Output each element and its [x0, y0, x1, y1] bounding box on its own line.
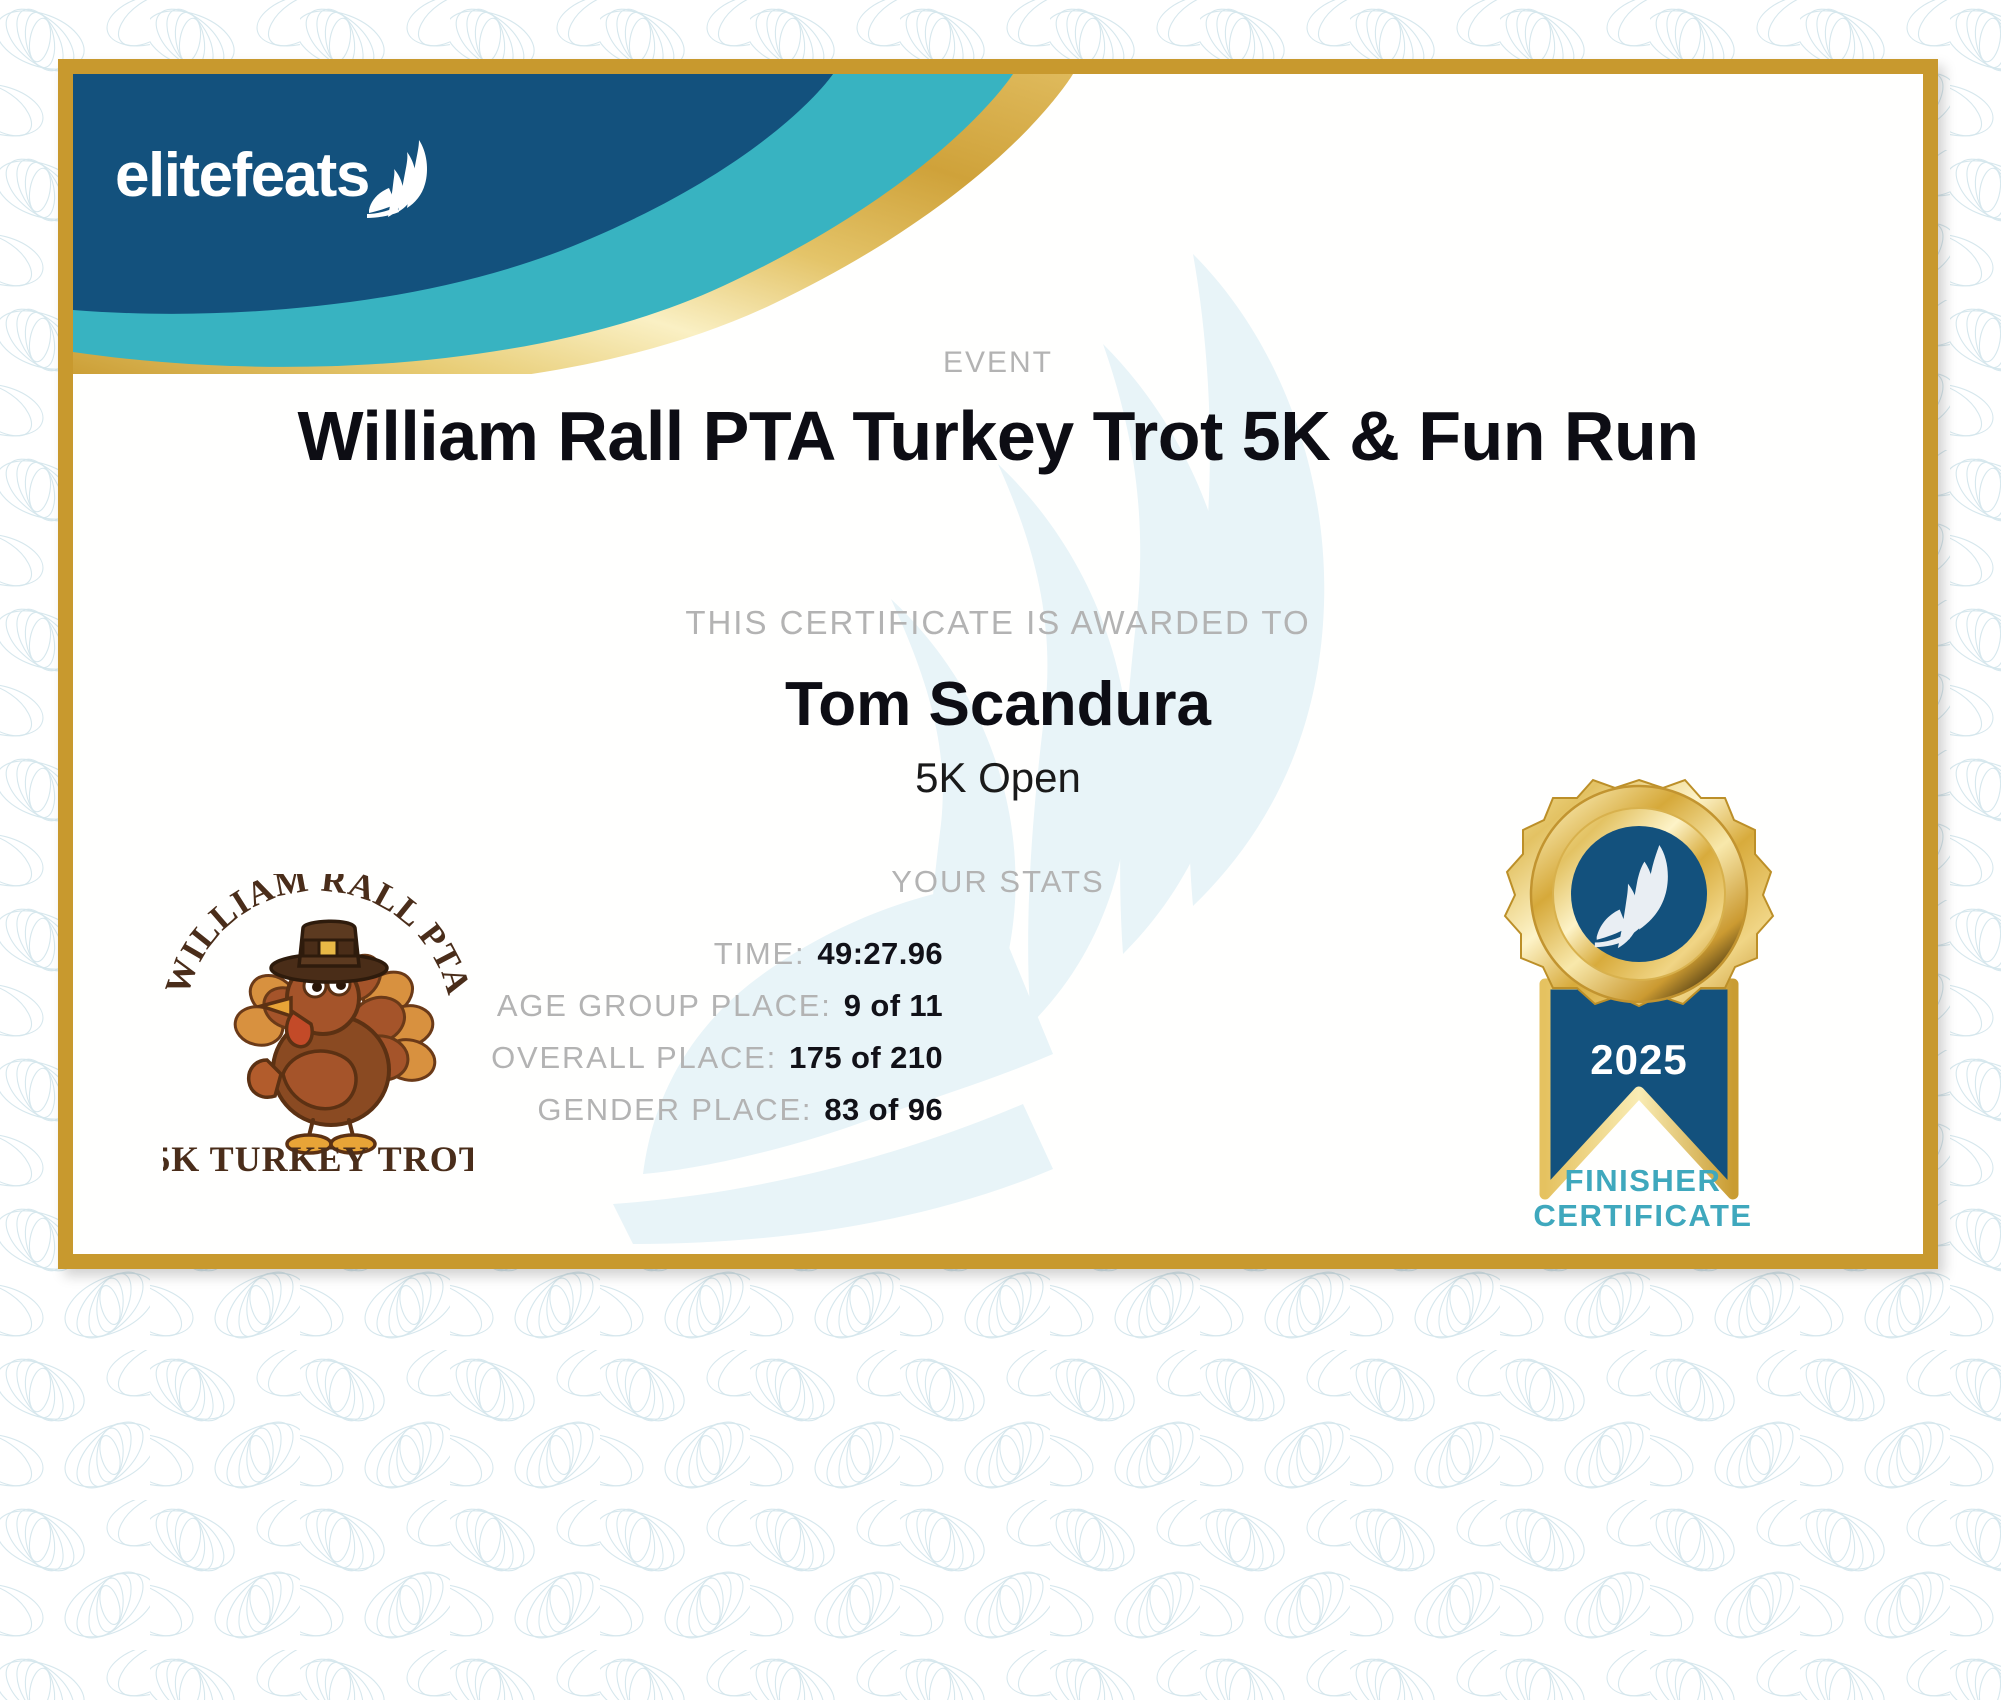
- elitefeats-logo: elitefeats: [115, 132, 435, 218]
- stats-list: TIME: 49:27.96 AGE GROUP PLACE: 9 of 11 …: [413, 936, 943, 1144]
- stat-key: OVERALL PLACE:: [491, 1040, 777, 1076]
- recipient-name: Tom Scandura: [73, 669, 1923, 740]
- certificate-frame: elitefeats EVENT William Rall PTA Turkey…: [58, 59, 1938, 1269]
- event-logo: WILLIAM RALL PTA: [163, 874, 473, 1174]
- stat-value: 49:27.96: [817, 936, 943, 972]
- stat-row-overall-place: OVERALL PLACE: 175 of 210: [413, 1040, 943, 1092]
- stat-key: GENDER PLACE:: [537, 1092, 812, 1128]
- stat-row-age-group-place: AGE GROUP PLACE: 9 of 11: [413, 988, 943, 1040]
- stat-value: 9 of 11: [844, 988, 943, 1024]
- certificate-content: EVENT William Rall PTA Turkey Trot 5K & …: [73, 74, 1923, 1254]
- finisher-caption-line2: CERTIFICATE: [1473, 1199, 1813, 1234]
- awarded-to-label: THIS CERTIFICATE IS AWARDED TO: [73, 604, 1923, 642]
- elitefeats-wordmark: elitefeats: [115, 140, 369, 211]
- stat-row-gender-place: GENDER PLACE: 83 of 96: [413, 1092, 943, 1144]
- stat-value: 83 of 96: [824, 1092, 943, 1128]
- event-name: William Rall PTA Turkey Trot 5K & Fun Ru…: [73, 396, 1923, 476]
- certificate-body: elitefeats EVENT William Rall PTA Turkey…: [73, 74, 1923, 1254]
- stat-key: AGE GROUP PLACE:: [497, 988, 832, 1024]
- stat-key: TIME:: [714, 936, 806, 972]
- finisher-caption: FINISHER CERTIFICATE: [1473, 1164, 1813, 1233]
- medal-year: 2025: [1590, 1036, 1687, 1083]
- winged-foot-icon: [365, 138, 435, 218]
- stat-value: 175 of 210: [789, 1040, 943, 1076]
- stat-row-time: TIME: 49:27.96: [413, 936, 943, 988]
- certificate-page: elitefeats EVENT William Rall PTA Turkey…: [0, 0, 2001, 1700]
- event-label: EVENT: [73, 346, 1923, 380]
- finisher-caption-line1: FINISHER: [1473, 1164, 1813, 1199]
- event-logo-bottom-text: 5K TURKEY TROT: [163, 1139, 473, 1174]
